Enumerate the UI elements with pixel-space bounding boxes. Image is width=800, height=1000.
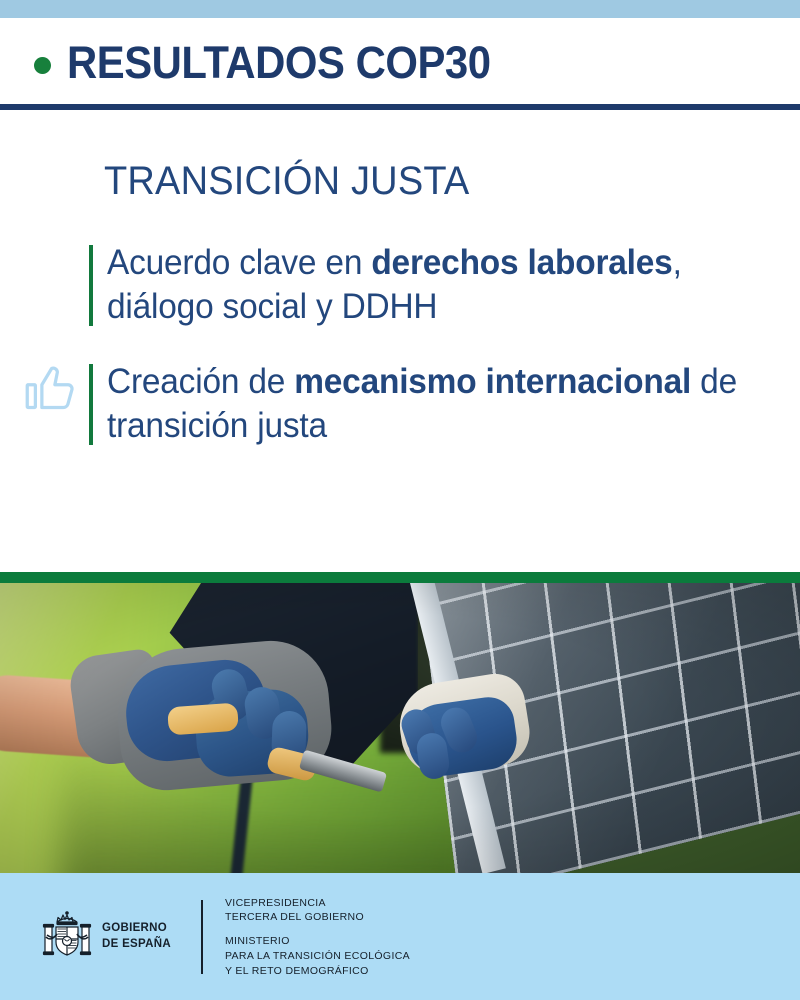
bullet-1-part-1: Acuerdo clave en <box>107 243 371 282</box>
ministry-block-2: MINISTERIO PARA LA TRANSICIÓN ECOLÓGICA … <box>225 934 410 978</box>
page-title: RESULTADOS COP30 <box>67 40 491 85</box>
top-accent-band <box>0 0 800 18</box>
vicepresidencia-line-1: VICEPRESIDENCIA <box>225 897 326 909</box>
footer-vertical-separator <box>201 900 203 974</box>
bullet-dot-icon <box>34 57 51 74</box>
gobierno-line-2: DE ESPAÑA <box>102 938 171 950</box>
bullet-1-part-2: derechos laborales <box>371 243 672 282</box>
hero-photo <box>0 583 800 873</box>
photo-screwdriver-handle <box>167 703 239 736</box>
ministerio-line-1: MINISTERIO <box>225 935 290 947</box>
gobierno-line-1: GOBIERNO <box>102 922 167 934</box>
content-section: TRANSICIÓN JUSTA Acuerdo clave en derech… <box>0 127 800 572</box>
bullet-text-1: Acuerdo clave en derechos laborales, diá… <box>107 241 758 330</box>
ministerio-line-3: Y EL RETO DEMOGRÁFICO <box>225 965 369 977</box>
bullet-list: Acuerdo clave en derechos laborales, diá… <box>89 241 789 479</box>
bullet-text-2: Creación de mecanismo internacional de t… <box>107 360 758 449</box>
thumbs-up-icon <box>24 362 76 414</box>
list-item: Acuerdo clave en derechos laborales, diá… <box>89 241 789 330</box>
section-title: TRANSICIÓN JUSTA <box>104 161 469 201</box>
list-item: Creación de mecanismo internacional de t… <box>89 360 789 449</box>
bullet-2-part-1: Creación de <box>107 362 294 401</box>
ministerio-line-2: PARA LA TRANSICIÓN ECOLÓGICA <box>225 950 410 962</box>
header: RESULTADOS COP30 <box>0 18 800 127</box>
footer-government-block: GOBIERNO DE ESPAÑA VICEPRESIDENCIA TERCE… <box>42 895 410 979</box>
footer: GOBIERNO DE ESPAÑA VICEPRESIDENCIA TERCE… <box>0 873 800 1000</box>
poster: RESULTADOS COP30 TRANSICIÓN JUSTA Acuerd… <box>0 0 800 1000</box>
vicepresidencia-line-2: TERCERA DEL GOBIERNO <box>225 911 364 923</box>
ministry-label: VICEPRESIDENCIA TERCERA DEL GOBIERNO MIN… <box>225 896 410 978</box>
green-divider-strip <box>0 572 800 583</box>
header-divider <box>0 104 800 110</box>
header-row: RESULTADOS COP30 <box>34 40 522 85</box>
spain-coat-of-arms-icon <box>42 909 92 965</box>
ministry-block-1: VICEPRESIDENCIA TERCERA DEL GOBIERNO <box>225 896 410 925</box>
gobierno-de-espana-label: GOBIERNO DE ESPAÑA <box>102 921 171 952</box>
bullet-2-part-2: mecanismo internacional <box>294 362 691 401</box>
